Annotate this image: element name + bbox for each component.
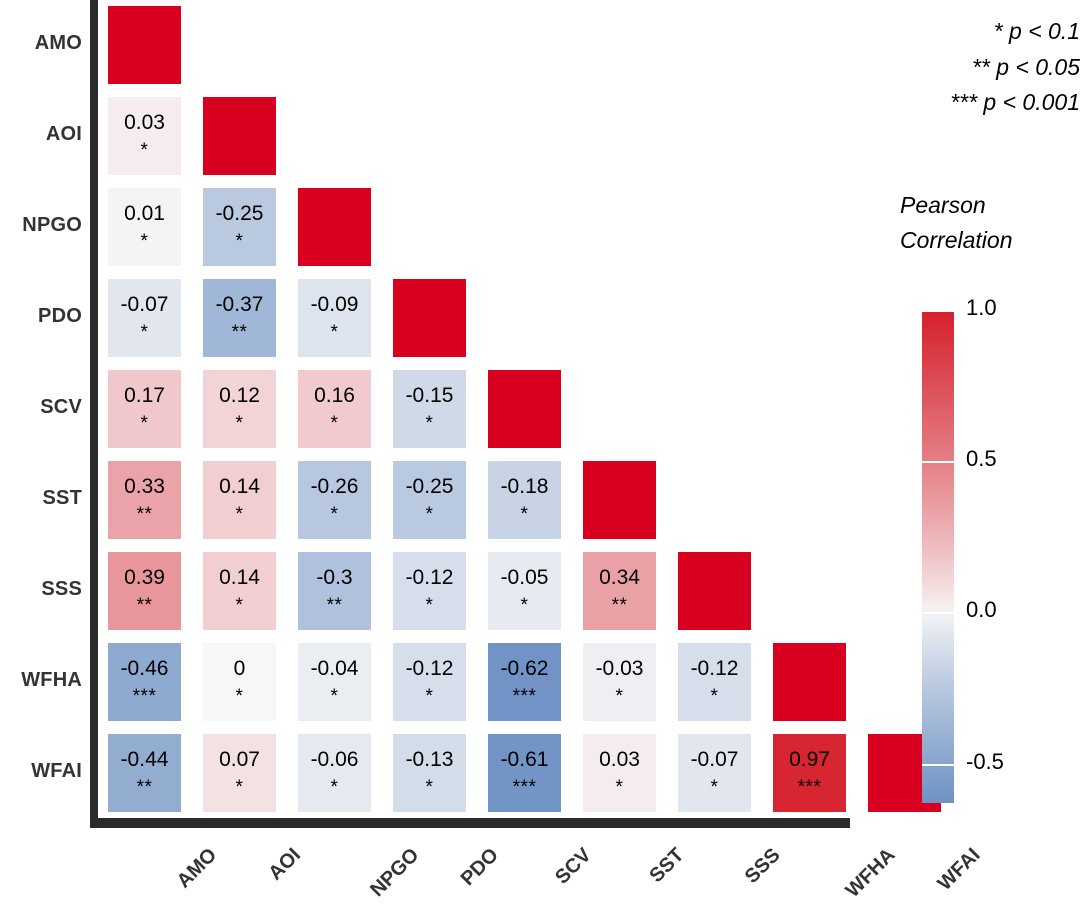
heatmap-cell-sss-amo: 0.39** [108, 552, 181, 630]
heatmap-cell-npgo-npgo [298, 188, 371, 266]
heatmap-cell-sst-aoi: 0.14* [203, 461, 276, 539]
significance-legend: * p < 0.1 ** p < 0.05 *** p < 0.001 [890, 14, 1090, 121]
tick-dash-right [945, 461, 954, 463]
cell-value: 0 [234, 658, 246, 680]
heatmap-cell-sss-sst: 0.34** [583, 552, 656, 630]
heatmap-cell-wfha-wfha [773, 643, 846, 721]
x-axis-label-sss: SSS [740, 844, 785, 889]
cell-significance-stars: ** [327, 596, 343, 615]
heatmap-cell-pdo-npgo: -0.09* [298, 279, 371, 357]
heatmap-cell-wfai-amo: -0.44** [108, 734, 181, 812]
cell-significance-stars: ** [232, 323, 248, 342]
cell-value: -0.12 [406, 658, 454, 680]
y-axis-label-sst: SST [0, 487, 82, 510]
heatmap-cell-wfai-scv: -0.61*** [488, 734, 561, 812]
colorbar-title-line-1: Pearson [900, 188, 1090, 223]
heatmap-cell-pdo-pdo [393, 279, 466, 357]
x-axis-label-wfai: WFAI [933, 844, 985, 896]
cell-value: 0.17 [124, 385, 165, 407]
x-axis-label-wfha: WFHA [841, 844, 900, 903]
heatmap-cell-npgo-aoi: -0.25* [203, 188, 276, 266]
cell-value: 0.39 [124, 567, 165, 589]
cell-value: 0.14 [219, 476, 260, 498]
tick-dash-right [945, 612, 954, 614]
y-axis-label-wfai: WFAI [0, 760, 82, 783]
cell-value: -0.03 [596, 658, 644, 680]
cell-significance-stars: * [236, 687, 244, 706]
colorbar-tick-mark-3 [922, 764, 954, 766]
cell-significance-stars: * [616, 778, 624, 797]
heatmap-cell-wfai-pdo: -0.13* [393, 734, 466, 812]
heatmap-cell-sss-pdo: -0.12* [393, 552, 466, 630]
cell-significance-stars: * [521, 596, 529, 615]
cell-value: -0.09 [311, 294, 359, 316]
cell-value: -0.25 [216, 203, 264, 225]
cell-value: -0.44 [121, 749, 169, 771]
heatmap-cell-scv-aoi: 0.12* [203, 370, 276, 448]
y-axis-label-scv: SCV [0, 396, 82, 419]
cell-significance-stars: * [711, 687, 719, 706]
cell-significance-stars: ** [137, 505, 153, 524]
cell-value: -0.15 [406, 385, 454, 407]
y-axis-label-amo: AMO [0, 32, 82, 55]
cell-value: -0.12 [691, 658, 739, 680]
cell-significance-stars: * [236, 505, 244, 524]
heatmap-cell-sss-scv: -0.05* [488, 552, 561, 630]
heatmap-cell-wfha-scv: -0.62*** [488, 643, 561, 721]
heatmap-cell-wfai-sst: 0.03* [583, 734, 656, 812]
cell-value: -0.06 [311, 749, 359, 771]
cell-value: 0.14 [219, 567, 260, 589]
heatmap-cell-wfha-amo: -0.46*** [108, 643, 181, 721]
cell-significance-stars: * [331, 687, 339, 706]
heatmap-cell-sst-npgo: -0.26* [298, 461, 371, 539]
colorbar-title: Pearson Correlation [900, 188, 1090, 257]
cell-significance-stars: ** [612, 596, 628, 615]
tick-dash-left [922, 612, 931, 614]
cell-value: 0.03 [124, 112, 165, 134]
cell-significance-stars: * [236, 414, 244, 433]
heatmap-cell-wfai-aoi: 0.07* [203, 734, 276, 812]
heatmap-cell-wfha-sss: -0.12* [678, 643, 751, 721]
cell-value: -0.13 [406, 749, 454, 771]
cell-significance-stars: * [236, 232, 244, 251]
heatmap-cell-wfai-npgo: -0.06* [298, 734, 371, 812]
cell-significance-stars: * [141, 323, 149, 342]
cell-value: -0.12 [406, 567, 454, 589]
cell-significance-stars: * [426, 414, 434, 433]
cell-value: 0.03 [599, 749, 640, 771]
x-axis-label-npgo: NPGO [366, 844, 424, 902]
y-axis-label-aoi: AOI [0, 123, 82, 146]
colorbar-tick-label-1: 0.5 [966, 446, 997, 472]
cell-value: 0.33 [124, 476, 165, 498]
heatmap-cell-npgo-amo: 0.01* [108, 188, 181, 266]
cell-significance-stars: *** [513, 778, 537, 797]
colorbar: 1.00.50.0-0.5 [922, 310, 1082, 803]
heatmap-cell-wfha-npgo: -0.04* [298, 643, 371, 721]
heatmap-cell-sst-scv: -0.18* [488, 461, 561, 539]
cell-significance-stars: * [711, 778, 719, 797]
cell-value: -0.07 [691, 749, 739, 771]
cell-significance-stars: * [331, 414, 339, 433]
tick-dash-left [922, 764, 931, 766]
heatmap-cell-sss-aoi: 0.14* [203, 552, 276, 630]
colorbar-tick-mark-0 [922, 310, 954, 312]
cell-significance-stars: * [236, 596, 244, 615]
cell-significance-stars: ** [137, 778, 153, 797]
cell-value: -0.07 [121, 294, 169, 316]
cell-significance-stars: * [236, 778, 244, 797]
cell-significance-stars: * [331, 323, 339, 342]
cell-value: -0.46 [121, 658, 169, 680]
cell-significance-stars: * [426, 505, 434, 524]
y-axis-label-npgo: NPGO [0, 214, 82, 237]
cell-value: -0.18 [501, 476, 549, 498]
heatmap-cell-wfai-wfha: 0.97*** [773, 734, 846, 812]
cell-value: -0.3 [316, 567, 352, 589]
heatmap-cell-sss-npgo: -0.3** [298, 552, 371, 630]
cell-significance-stars: *** [513, 687, 537, 706]
heatmap-cell-scv-amo: 0.17* [108, 370, 181, 448]
cell-value: -0.04 [311, 658, 359, 680]
heatmap-cell-amo-amo [108, 6, 181, 84]
tick-dash-right [945, 310, 954, 312]
cell-value: -0.25 [406, 476, 454, 498]
heatmap-cell-wfha-aoi: 0* [203, 643, 276, 721]
correlation-heatmap: AMOAOINPGOPDOSCVSSTSSSWFHAWFAI 0.03*0.01… [0, 0, 890, 830]
cell-value: 0.12 [219, 385, 260, 407]
y-axis-label-pdo: PDO [0, 305, 82, 328]
heatmap-cell-sst-amo: 0.33** [108, 461, 181, 539]
cell-significance-stars: * [331, 505, 339, 524]
heatmap-cell-sst-pdo: -0.25* [393, 461, 466, 539]
cell-value: 0.97 [789, 749, 830, 771]
heatmap-cell-sst-sst [583, 461, 656, 539]
cell-significance-stars: *** [798, 778, 822, 797]
cell-significance-stars: * [616, 687, 624, 706]
heatmap-cell-pdo-amo: -0.07* [108, 279, 181, 357]
y-axis-spine [90, 0, 98, 828]
cell-value: 0.16 [314, 385, 355, 407]
heatmap-cell-aoi-amo: 0.03* [108, 97, 181, 175]
cell-value: -0.05 [501, 567, 549, 589]
colorbar-tick-mark-2 [922, 612, 954, 614]
significance-legend-line-1: * p < 0.1 [890, 14, 1080, 50]
cell-value: -0.62 [501, 658, 549, 680]
colorbar-tick-label-0: 1.0 [966, 295, 997, 321]
x-axis-spine [90, 818, 850, 828]
cell-significance-stars: * [426, 596, 434, 615]
cell-significance-stars: * [141, 414, 149, 433]
colorbar-gradient [922, 310, 954, 803]
x-axis-label-aoi: AOI [264, 844, 305, 885]
cell-value: -0.37 [216, 294, 264, 316]
colorbar-tick-label-2: 0.0 [966, 597, 997, 623]
significance-legend-line-3: *** p < 0.001 [890, 85, 1080, 121]
y-axis-label-wfha: WFHA [0, 669, 82, 692]
heatmap-cell-scv-scv [488, 370, 561, 448]
cell-value: -0.26 [311, 476, 359, 498]
cell-value: 0.34 [599, 567, 640, 589]
x-axis-label-amo: AMO [172, 844, 221, 893]
colorbar-tick-mark-1 [922, 461, 954, 463]
heatmap-cell-aoi-aoi [203, 97, 276, 175]
heatmap-cell-pdo-aoi: -0.37** [203, 279, 276, 357]
cell-significance-stars: * [141, 141, 149, 160]
colorbar-tick-label-3: -0.5 [966, 749, 1004, 775]
tick-dash-right [945, 764, 954, 766]
significance-legend-line-2: ** p < 0.05 [890, 50, 1080, 86]
cell-significance-stars: ** [137, 596, 153, 615]
heatmap-cell-sss-sss [678, 552, 751, 630]
tick-dash-left [922, 310, 931, 312]
tick-dash-left [922, 461, 931, 463]
colorbar-title-line-2: Correlation [900, 223, 1090, 258]
cell-significance-stars: * [426, 687, 434, 706]
x-axis-label-sst: SST [645, 844, 689, 888]
heatmap-cell-wfha-sst: -0.03* [583, 643, 656, 721]
cell-significance-stars: * [141, 232, 149, 251]
heatmap-cell-scv-pdo: -0.15* [393, 370, 466, 448]
x-axis-label-scv: SCV [551, 844, 596, 889]
heatmap-cell-wfai-sss: -0.07* [678, 734, 751, 812]
x-axis-tick-labels: AMOAOINPGOPDOSCVSSTSSSWFHAWFAI [0, 828, 890, 906]
cell-value: -0.61 [501, 749, 549, 771]
cell-significance-stars: * [521, 505, 529, 524]
cell-significance-stars: *** [133, 687, 157, 706]
y-axis-label-sss: SSS [0, 578, 82, 601]
heatmap-cell-scv-npgo: 0.16* [298, 370, 371, 448]
cell-value: 0.07 [219, 749, 260, 771]
cell-significance-stars: * [426, 778, 434, 797]
cell-value: 0.01 [124, 203, 165, 225]
x-axis-label-pdo: PDO [456, 844, 503, 891]
cell-significance-stars: * [331, 778, 339, 797]
heatmap-cell-wfha-pdo: -0.12* [393, 643, 466, 721]
